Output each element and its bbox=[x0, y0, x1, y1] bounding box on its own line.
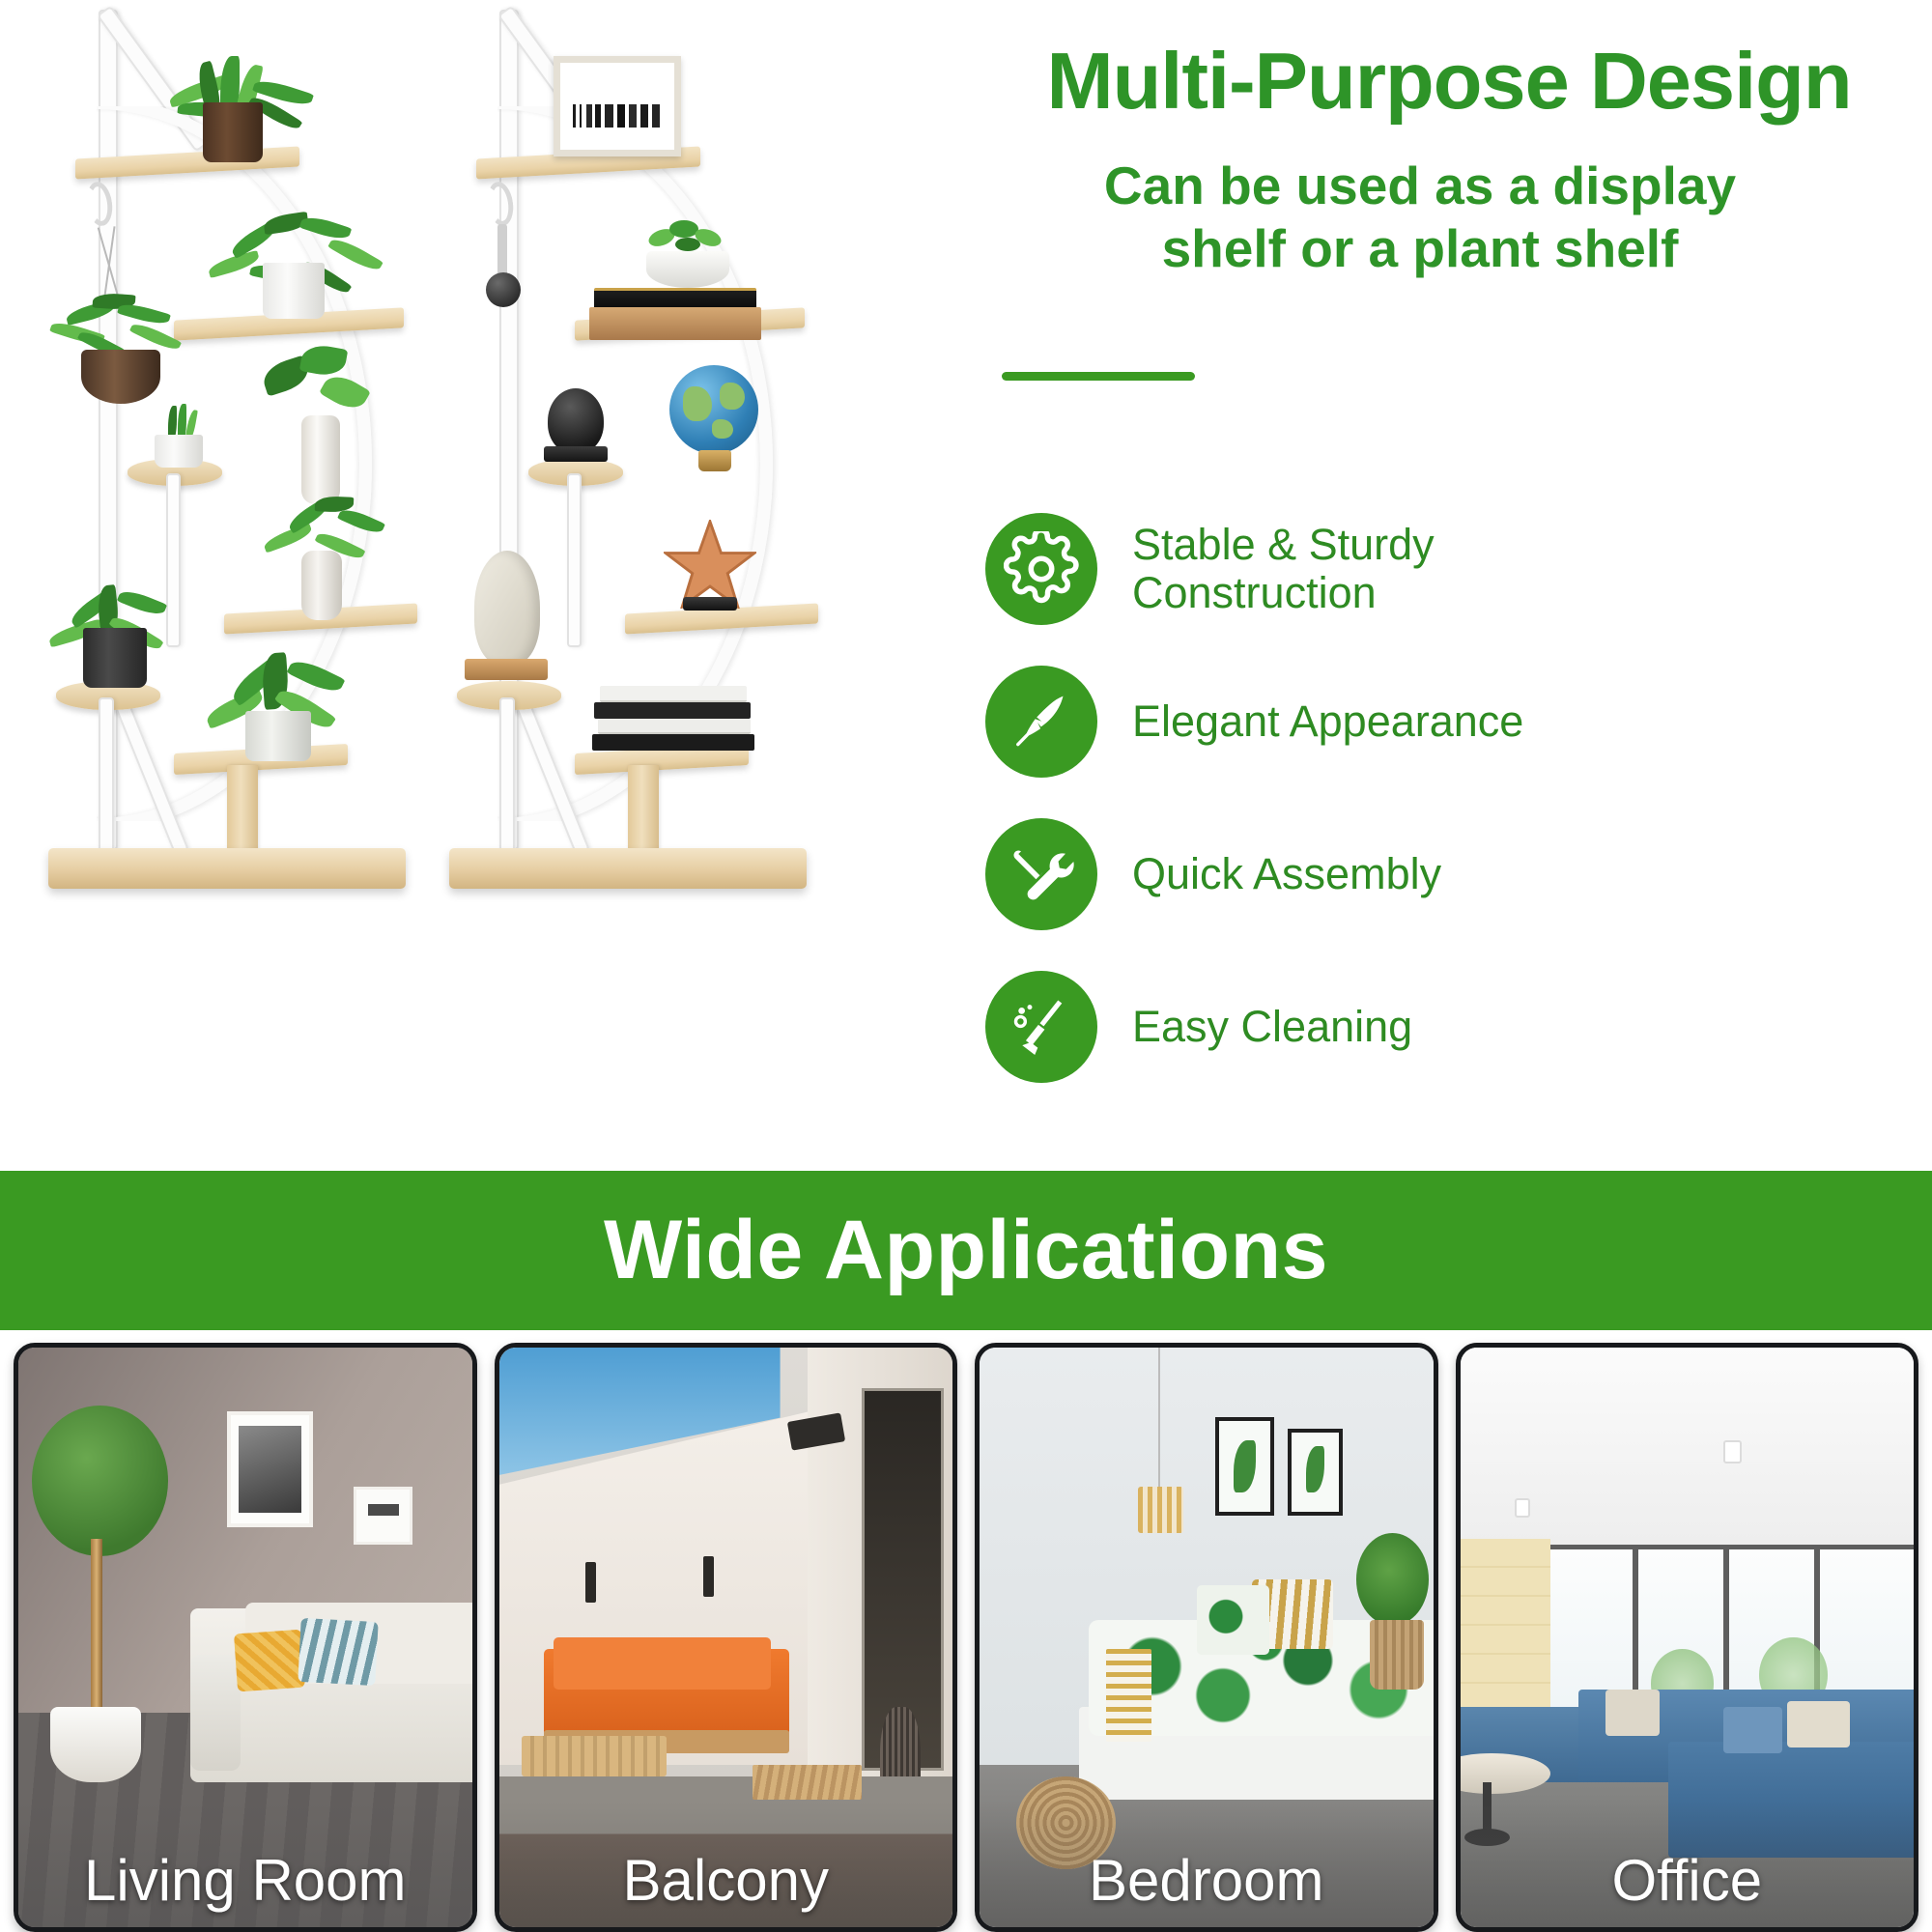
display-stand-right bbox=[440, 10, 855, 889]
sofa-arm bbox=[190, 1655, 241, 1771]
pillow-blue bbox=[1723, 1707, 1782, 1753]
book-stack-item bbox=[598, 719, 751, 734]
starfish-decor bbox=[664, 520, 756, 609]
feature-item-quick-assembly: Quick Assembly bbox=[985, 812, 1913, 936]
pinecone-ornament bbox=[548, 388, 604, 454]
feature-item-easy-cleaning: Easy Cleaning bbox=[985, 965, 1913, 1089]
feature-label: Easy Cleaning bbox=[1132, 1003, 1412, 1051]
application-card-balcony[interactable]: Balcony bbox=[495, 1343, 958, 1932]
application-card-living-room[interactable]: Living Room bbox=[14, 1343, 477, 1932]
broom-icon bbox=[985, 971, 1097, 1083]
pendant-shade bbox=[1138, 1487, 1183, 1533]
divider-rule bbox=[1002, 372, 1195, 381]
banner-title: Wide Applications bbox=[0, 1171, 1932, 1330]
pillow-cream bbox=[1787, 1701, 1851, 1747]
wall-art-small bbox=[354, 1487, 412, 1545]
feature-label: Quick Assembly bbox=[1132, 850, 1441, 898]
pinecone-base bbox=[544, 446, 608, 462]
vase-white-mid bbox=[301, 551, 342, 620]
plant-stand-left bbox=[39, 10, 454, 889]
sconce bbox=[585, 1562, 596, 1603]
gear-icon bbox=[985, 513, 1097, 625]
feature-label: Stable & Sturdy Construction bbox=[1132, 521, 1435, 618]
top-section: Multi-Purpose Design Can be used as a di… bbox=[0, 0, 1932, 1169]
potted-tree-foliage bbox=[32, 1406, 168, 1556]
pillow-botanical bbox=[1197, 1585, 1269, 1655]
tree-trunk bbox=[91, 1539, 102, 1730]
sconce bbox=[703, 1556, 714, 1597]
bowl-white bbox=[646, 251, 729, 288]
application-label: Balcony bbox=[499, 1847, 953, 1914]
pendant-cord bbox=[1158, 1348, 1160, 1487]
application-label: Living Room bbox=[18, 1847, 472, 1914]
wall-art-inner bbox=[239, 1426, 302, 1513]
book-black bbox=[594, 288, 756, 309]
feature-label: Elegant Appearance bbox=[1132, 697, 1523, 746]
sofa-cushion-back bbox=[554, 1637, 771, 1690]
feature-item-stable-sturdy: Stable & Sturdy Construction bbox=[985, 507, 1913, 631]
statue-wood-base bbox=[465, 659, 548, 680]
round-shelf-support bbox=[567, 473, 582, 647]
pot-black-aloe bbox=[83, 628, 147, 688]
application-cards: Living Room Balcony bbox=[0, 1343, 1932, 1932]
vase-white-tall bbox=[301, 415, 340, 504]
ceiling-light bbox=[1515, 1498, 1530, 1518]
application-label: Bedroom bbox=[980, 1847, 1434, 1914]
pendulum-ornament bbox=[497, 224, 507, 278]
book-stack-item bbox=[592, 734, 754, 751]
book-wood-box bbox=[589, 307, 761, 340]
wall-panel bbox=[1461, 1539, 1551, 1724]
application-label: Office bbox=[1461, 1847, 1915, 1914]
pot-white-second bbox=[263, 263, 325, 319]
ceiling-light bbox=[1723, 1440, 1742, 1463]
low-shelf-support bbox=[499, 697, 515, 852]
feature-item-elegant-appearance: Elegant Appearance bbox=[985, 660, 1913, 783]
pendulum-weight bbox=[486, 272, 521, 307]
outdoor-rug bbox=[753, 1765, 862, 1800]
subheadline-line1: Can be used as a display bbox=[976, 155, 1864, 217]
book-stack bbox=[1106, 1649, 1151, 1742]
feature-list: Stable & Sturdy Construction Elegant App… bbox=[985, 507, 1913, 1118]
pot-brown-top bbox=[203, 102, 263, 162]
pillow-striped bbox=[298, 1618, 378, 1686]
globe-decor bbox=[669, 365, 758, 454]
stand-base bbox=[48, 848, 406, 889]
stand-base bbox=[449, 848, 807, 889]
subheadline: Can be used as a display shelf or a plan… bbox=[976, 155, 1864, 280]
pillow-yellow bbox=[234, 1630, 305, 1692]
wide-applications-banner: Wide Applications bbox=[0, 1171, 1932, 1330]
tools-icon bbox=[985, 818, 1097, 930]
pot-grey-lily bbox=[245, 711, 311, 761]
hanging-pot bbox=[81, 350, 160, 404]
application-card-office[interactable]: Office bbox=[1456, 1343, 1919, 1932]
application-card-bedroom[interactable]: Bedroom bbox=[975, 1343, 1438, 1932]
picture-frame bbox=[554, 56, 681, 156]
plant-foliage bbox=[1356, 1533, 1429, 1626]
subheadline-line2: shelf or a plant shelf bbox=[976, 217, 1864, 280]
globe-stand bbox=[698, 450, 731, 471]
headline: Multi-Purpose Design bbox=[976, 41, 1922, 121]
product-photo-area bbox=[0, 0, 976, 1169]
low-shelf-support bbox=[99, 697, 114, 852]
book-stack-item bbox=[594, 702, 751, 719]
feather-icon bbox=[985, 666, 1097, 778]
starfish-base bbox=[683, 597, 737, 611]
book-stack-item bbox=[600, 686, 747, 702]
pot-succulent-small bbox=[155, 435, 203, 468]
wall-art-small-inner bbox=[368, 1504, 400, 1516]
tree-planter bbox=[50, 1707, 141, 1782]
coffee-table bbox=[522, 1736, 667, 1776]
stone-face-statue bbox=[474, 551, 540, 665]
pillow-cream bbox=[1605, 1690, 1660, 1736]
plant-basket bbox=[1370, 1620, 1424, 1690]
